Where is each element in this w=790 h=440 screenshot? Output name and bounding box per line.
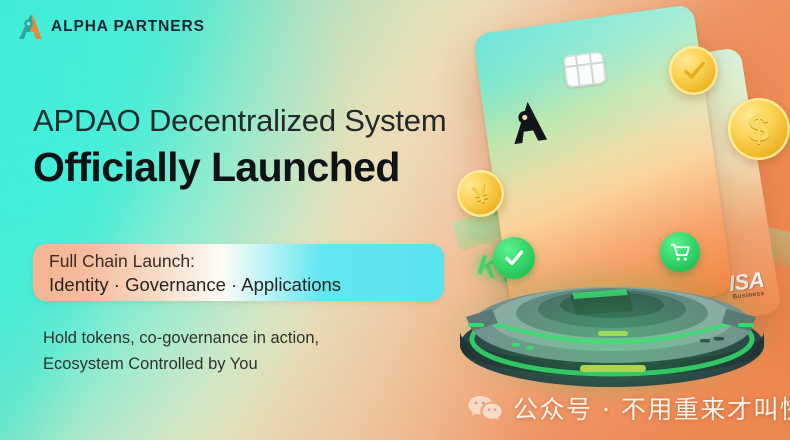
wechat-icon xyxy=(468,394,502,422)
watermark: 公众号 · 不用重来才叫快 xyxy=(468,390,790,426)
watermark-text: 公众号 · 不用重来才叫快 xyxy=(513,390,790,426)
coin-check-icon xyxy=(669,46,718,95)
pill-line-2: Identity · Governance · Applications xyxy=(49,273,444,297)
pill-line-1: Full Chain Launch: xyxy=(49,250,444,273)
emv-chip-icon xyxy=(563,51,607,88)
coin-yen-glyph: ¥ xyxy=(470,179,491,208)
tech-pedestal-icon xyxy=(452,247,772,389)
coin-dollar-glyph: $ xyxy=(748,110,769,148)
tagline-line-2: Ecosystem Controlled by You xyxy=(43,351,319,377)
headline-line-2: Officially Launched xyxy=(33,146,463,189)
pedestal-glow xyxy=(444,265,780,395)
promo-banner: »» KYC 2.0 VISA Business xyxy=(0,0,790,440)
highlight-pill: Full Chain Launch: Identity · Governance… xyxy=(33,244,444,301)
headline-line-1: APDAO Decentralized System xyxy=(33,104,463,139)
alpha-a-mark-icon xyxy=(19,13,44,40)
alpha-a-card-logo-icon xyxy=(509,97,555,146)
tagline-line-1: Hold tokens, co-governance in action, xyxy=(43,325,319,351)
product-artwork: »» KYC 2.0 VISA Business xyxy=(430,0,790,440)
brand-name: ALPHA PARTNERS xyxy=(51,18,205,36)
coin-dollar-icon: $ xyxy=(728,98,790,160)
brand-logo[interactable]: ALPHA PARTNERS xyxy=(19,13,205,40)
headline-block: APDAO Decentralized System Officially La… xyxy=(33,104,463,189)
tagline-block: Hold tokens, co-governance in action, Ec… xyxy=(43,325,319,378)
